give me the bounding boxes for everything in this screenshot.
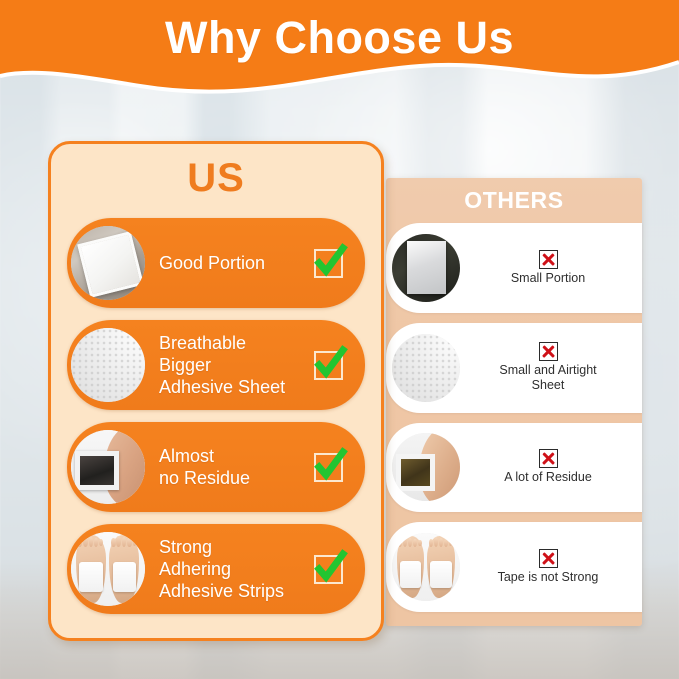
- others-thumbnail-airtight-sheet: [392, 334, 460, 402]
- others-thumbnail-small-portion: [392, 234, 460, 302]
- others-row-label: Small Portion: [462, 271, 634, 286]
- others-panel: OTHERS Small Portion Small and Airtight …: [386, 178, 642, 626]
- us-row-label: Almost no Residue: [159, 445, 314, 489]
- others-row[interactable]: A lot of Residue: [386, 423, 642, 513]
- green-check-glyph: [311, 548, 349, 586]
- us-panel-title: US: [51, 156, 381, 201]
- us-row-label: Good Portion: [159, 252, 314, 274]
- red-x-icon: [539, 549, 558, 568]
- green-check-icon: [314, 351, 343, 380]
- page-title: Why Choose Us: [0, 5, 679, 71]
- others-row-list: Small Portion Small and Airtight Sheet: [386, 223, 642, 612]
- red-x-icon: [539, 449, 558, 468]
- others-row-body: Tape is not Strong: [460, 549, 642, 585]
- us-row-label: Strong Adhering Adhesive Strips: [159, 536, 314, 602]
- us-row[interactable]: Strong Adhering Adhesive Strips: [67, 524, 365, 614]
- green-check-glyph: [311, 242, 349, 280]
- us-row[interactable]: Breathable Bigger Adhesive Sheet: [67, 320, 365, 410]
- red-x-icon: [539, 250, 558, 269]
- us-thumbnail-no-residue: [71, 430, 145, 504]
- others-thumbnail-loose-tape: [392, 533, 460, 601]
- others-row-body: A lot of Residue: [460, 449, 642, 485]
- us-row[interactable]: Almost no Residue: [67, 422, 365, 512]
- others-row-label: A lot of Residue: [462, 470, 634, 485]
- red-x-icon: [539, 342, 558, 361]
- others-row-body: Small and Airtight Sheet: [460, 342, 642, 393]
- us-thumbnail-adhesive-strips: [71, 532, 145, 606]
- others-row-body: Small Portion: [460, 250, 642, 286]
- us-thumbnail-good-portion: [71, 226, 145, 300]
- others-row-label: Small and Airtight Sheet: [462, 363, 634, 393]
- header-banner: Why Choose Us: [0, 0, 679, 105]
- others-row-label: Tape is not Strong: [462, 570, 634, 585]
- us-row[interactable]: Good Portion: [67, 218, 365, 308]
- us-panel: US Good Portion Breathable Bigger Adhesi…: [48, 141, 384, 641]
- others-row[interactable]: Small Portion: [386, 223, 642, 313]
- green-check-icon: [314, 555, 343, 584]
- us-row-label: Breathable Bigger Adhesive Sheet: [159, 332, 314, 398]
- us-thumbnail-adhesive-sheet: [71, 328, 145, 402]
- others-row[interactable]: Small and Airtight Sheet: [386, 323, 642, 413]
- green-check-icon: [314, 249, 343, 278]
- us-row-list: Good Portion Breathable Bigger Adhesive …: [67, 218, 365, 614]
- others-row[interactable]: Tape is not Strong: [386, 522, 642, 612]
- green-check-glyph: [311, 344, 349, 382]
- green-check-icon: [314, 453, 343, 482]
- others-panel-title: OTHERS: [386, 187, 642, 214]
- comparison-infographic: Why Choose Us OTHERS Small Portion: [0, 0, 679, 679]
- others-thumbnail-residue: [392, 433, 460, 501]
- green-check-glyph: [311, 446, 349, 484]
